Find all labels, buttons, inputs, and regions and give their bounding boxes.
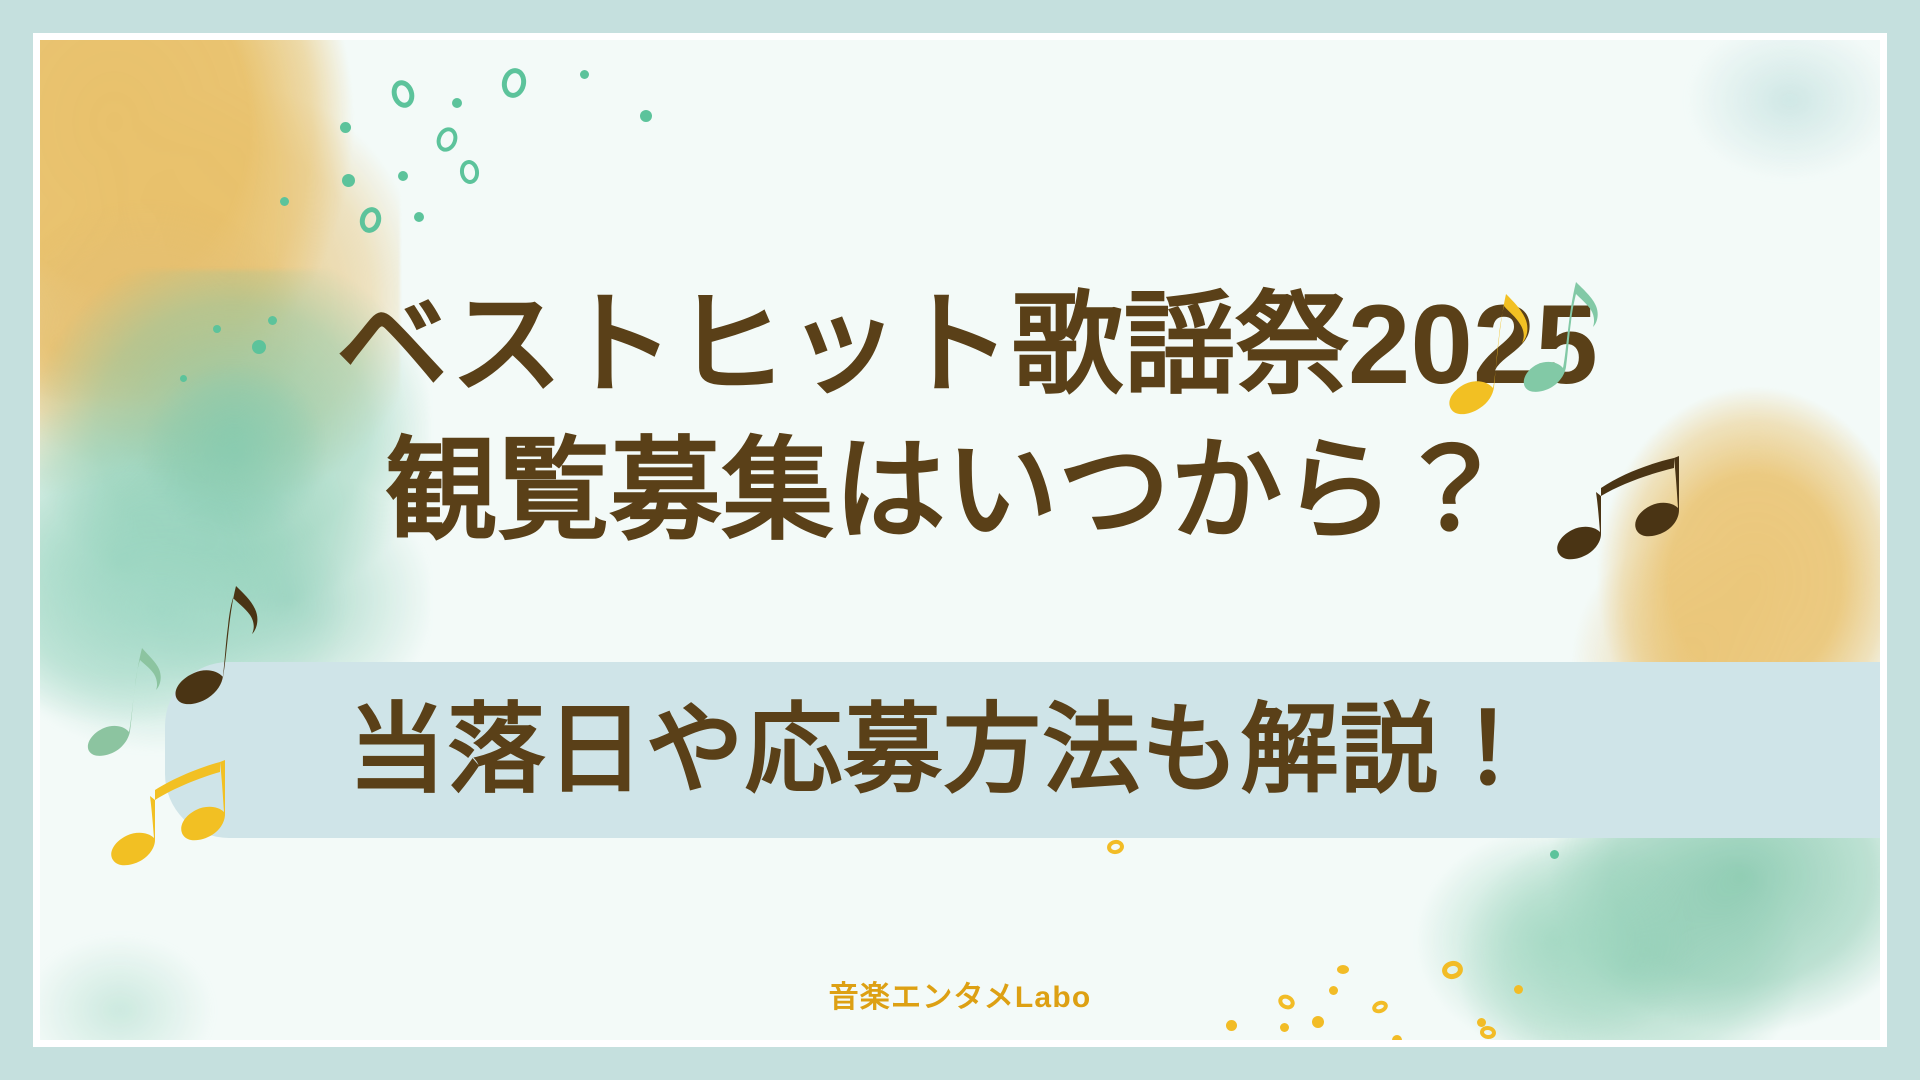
confetti-green-ring — [433, 124, 461, 155]
confetti-green-dot — [640, 110, 652, 122]
thumbnail-canvas: ベストヒット歌謡祭2025 観覧募集はいつから？ 当落日や応募方法も解説！ 音楽… — [0, 0, 1920, 1080]
headline-line-1: ベストヒット歌謡祭2025 — [54, 272, 1880, 418]
confetti-green-ring — [499, 66, 529, 100]
brand-name: 音楽エンタメLabo — [40, 972, 1880, 1016]
subtitle-block: 当落日や応募方法も解説！ — [40, 680, 1880, 819]
confetti-green-dot — [580, 70, 589, 79]
confetti-yellow-dot — [1312, 1016, 1324, 1028]
headline-block: ベストヒット歌謡祭2025 観覧募集はいつから？ — [40, 272, 1880, 563]
confetti-green-dot — [342, 174, 355, 187]
confetti-yellow-dot — [1280, 1023, 1289, 1032]
confetti-yellow-ring — [1106, 839, 1125, 856]
confetti-yellow-ring — [1479, 1025, 1497, 1040]
confetti-yellow-dot — [1226, 1020, 1237, 1031]
watercolor-wash-teal-top-right — [1660, 40, 1880, 200]
confetti-green-ring — [357, 205, 384, 236]
confetti-green-dot — [280, 197, 289, 206]
confetti-green-dot — [1550, 850, 1559, 859]
confetti-green-ring — [458, 159, 480, 185]
confetti-green-ring — [388, 77, 418, 110]
confetti-green-dot — [414, 212, 424, 222]
confetti-green-dot — [340, 122, 351, 133]
card-surface: ベストヒット歌謡祭2025 観覧募集はいつから？ 当落日や応募方法も解説！ 音楽… — [40, 40, 1880, 1040]
confetti-yellow-dot — [1392, 1035, 1402, 1040]
headline-line-2: 観覧募集はいつから？ — [40, 418, 1880, 564]
subtitle-text: 当落日や応募方法も解説！ — [348, 680, 1538, 819]
confetti-green-dot — [398, 171, 408, 181]
confetti-green-dot — [452, 98, 462, 108]
confetti-yellow-dot — [1477, 1018, 1486, 1027]
